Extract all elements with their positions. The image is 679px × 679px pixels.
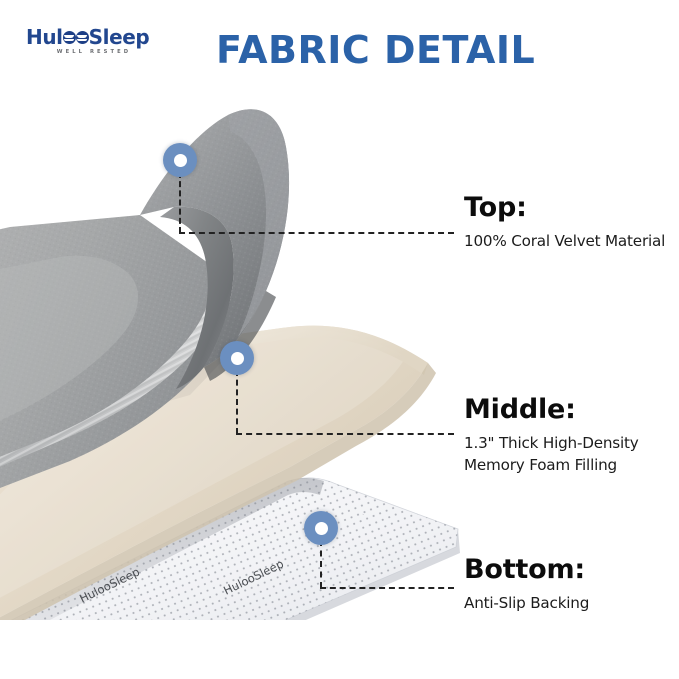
callout-bottom-body: Anti-Slip Backing bbox=[464, 592, 679, 614]
callout-middle: Middle: 1.3" Thick High-Density Memory F… bbox=[464, 396, 679, 476]
callout-top-body: 100% Coral Velvet Material bbox=[464, 230, 679, 252]
logo-tagline: WELL RESTED bbox=[26, 49, 156, 55]
page-title: FABRIC DETAIL bbox=[216, 28, 535, 72]
logo-name-part1: Hul bbox=[26, 26, 63, 48]
sleep-eye-icon-right bbox=[76, 31, 89, 44]
callout-middle-body: 1.3" Thick High-Density Memory Foam Fill… bbox=[464, 432, 679, 476]
leader-line-middle-vertical bbox=[236, 370, 238, 434]
callout-top: Top: 100% Coral Velvet Material bbox=[464, 194, 679, 252]
callout-dot-icon-middle bbox=[220, 341, 254, 375]
sleep-eye-icon-left bbox=[63, 31, 76, 44]
leader-line-bottom-horizontal bbox=[320, 587, 454, 589]
callout-dot-icon-bottom bbox=[304, 511, 338, 545]
callout-bottom-heading: Bottom: bbox=[464, 556, 679, 584]
logo-wordmark: HulSleep bbox=[26, 24, 156, 46]
leader-line-top-horizontal bbox=[179, 232, 454, 234]
leader-line-top-vertical bbox=[179, 172, 181, 233]
leader-line-bottom-vertical bbox=[320, 540, 322, 588]
callout-bottom: Bottom: Anti-Slip Backing bbox=[464, 556, 679, 614]
leader-line-middle-horizontal bbox=[236, 433, 454, 435]
logo-name-part2: Sleep bbox=[89, 26, 150, 48]
callout-top-heading: Top: bbox=[464, 194, 679, 222]
infographic-canvas: HulSleep WELL RESTED FABRIC DETAIL bbox=[0, 0, 679, 679]
callout-middle-heading: Middle: bbox=[464, 396, 679, 424]
callout-dot-icon-top bbox=[163, 143, 197, 177]
brand-logo: HulSleep WELL RESTED bbox=[26, 24, 156, 60]
